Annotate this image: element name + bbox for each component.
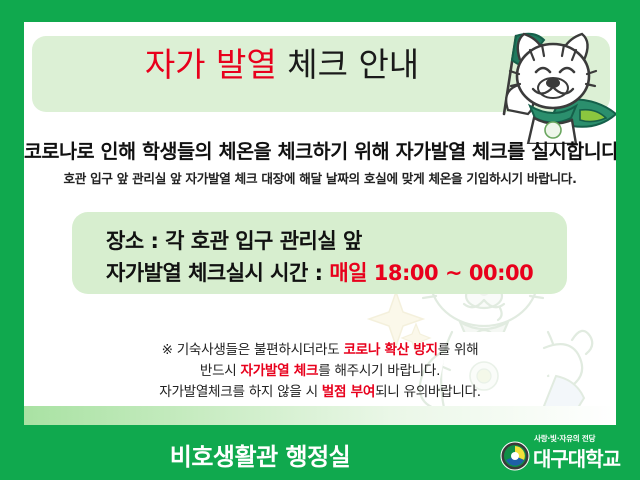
university-emblem-icon	[500, 441, 530, 471]
university-logo: 사랑·빛·자유의 전당 대구대학교	[500, 433, 628, 473]
note1-highlight: 코로나 확산 방지	[343, 342, 437, 358]
note2-pre: 반드시	[200, 363, 241, 379]
headline-text: 코로나로 인해 학생들의 체온을 체크하기 위해 자가발열 체크를 실시합니다.	[24, 135, 616, 164]
page-title-rest: 체크 안내	[277, 45, 419, 84]
note3-highlight: 벌점 부여	[322, 384, 375, 400]
note3-pre: 자가발열체크를 하지 않을 시	[159, 384, 322, 400]
tiger-mascot-icon	[468, 22, 616, 144]
note-line-1: ※ 기숙사생들은 불편하시더라도 코로나 확산 방지를 위해	[24, 340, 616, 361]
note3-post: 되니 유의바랍니다.	[375, 384, 481, 400]
location-line: 장소 : 각 호관 입구 관리실 앞	[106, 225, 362, 255]
note1-pre: ※ 기숙사생들은 불편하시더라도	[162, 342, 344, 358]
poster-root: 자가 발열 체크 안내	[0, 0, 640, 480]
note-line-3: 자가발열체크를 하지 않을 시 벌점 부여되니 유의바랍니다.	[24, 382, 616, 403]
note1-post: 를 위해	[438, 342, 479, 358]
note2-post: 를 해주시기 바랍니다.	[318, 363, 440, 379]
footer-bar: 비호생활관 행정실 사랑·빛·자유의 전당 대구대학교	[0, 425, 640, 480]
time-value: 매일 18:00 ~ 00:00	[329, 261, 533, 285]
info-box: 장소 : 각 호관 입구 관리실 앞 자가발열 체크실시 시간 : 매일 18:…	[72, 212, 567, 294]
poster-canvas: 자가 발열 체크 안내	[24, 22, 616, 406]
footer-title: 비호생활관 행정실	[0, 437, 580, 472]
time-line: 자가발열 체크실시 시간 : 매일 18:00 ~ 00:00	[106, 257, 533, 287]
gradient-divider	[24, 406, 616, 425]
notes-block: ※ 기숙사생들은 불편하시더라도 코로나 확산 방지를 위해 반드시 자가발열 …	[24, 340, 616, 403]
note2-highlight: 자가발열 체크	[241, 363, 319, 379]
note-line-2: 반드시 자가발열 체크를 해주시기 바랍니다.	[24, 361, 616, 382]
time-label: 자가발열 체크실시 시간 :	[106, 261, 329, 285]
page-title-highlight: 자가 발열	[145, 45, 277, 84]
sub-headline-text: 호관 입구 앞 관리실 앞 자가발열 체크 대장에 해달 날짜의 호실에 맞게 …	[24, 168, 616, 187]
page-title: 자가 발열 체크 안내	[32, 46, 532, 84]
logo-university-name: 대구대학교	[533, 443, 620, 472]
